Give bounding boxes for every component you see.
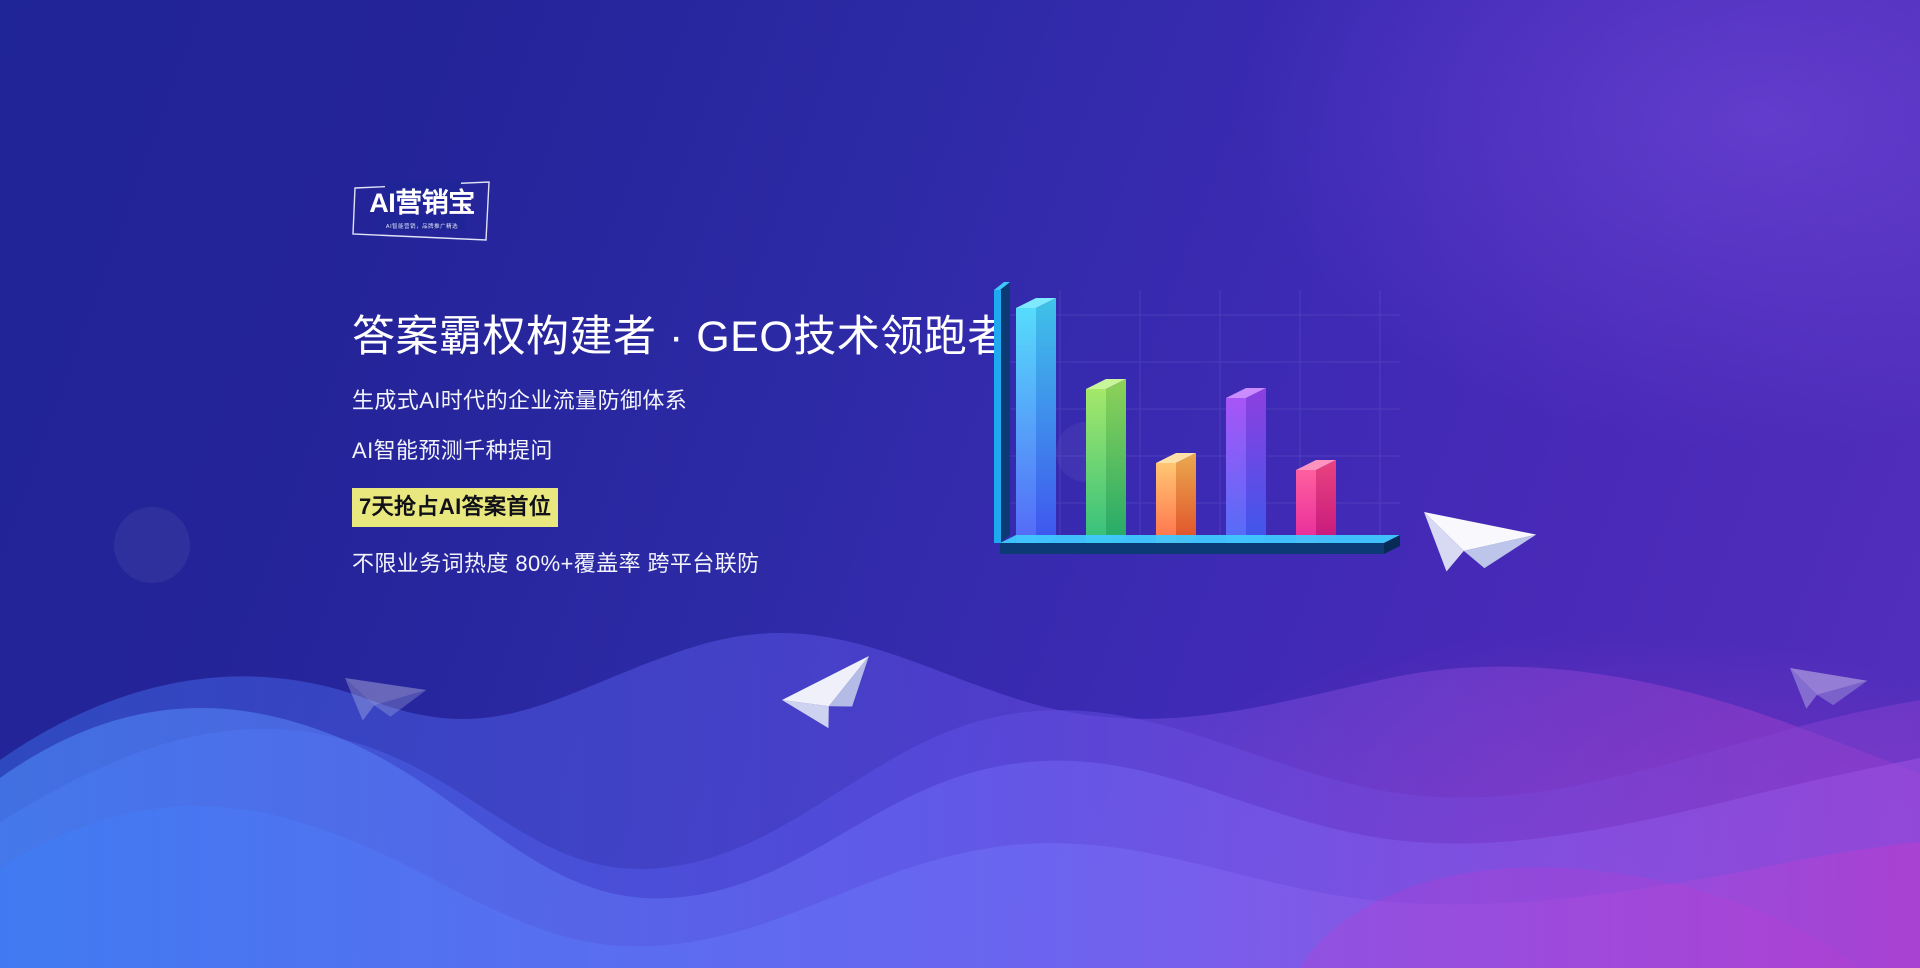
bar-chart-illustration bbox=[980, 290, 1400, 600]
logo-tagline: AI智能营销，品牌推广精选 bbox=[352, 222, 492, 231]
chart-bar-3 bbox=[1156, 453, 1196, 548]
hero-banner: AI营销宝 AI智能营销，品牌推广精选 答案霸权构建者 · GEO技术领跑者 生… bbox=[0, 0, 1920, 968]
decor-circle-left bbox=[114, 507, 190, 583]
glow-bottom-right bbox=[1040, 630, 1920, 968]
hero-copy: 答案霸权构建者 · GEO技术领跑者 生成式AI时代的企业流量防御体系 AI智能… bbox=[352, 312, 1072, 575]
wave-magenta-blob bbox=[1300, 867, 1860, 968]
paper-plane-left-wave bbox=[345, 664, 430, 723]
paper-plane-far-right bbox=[1790, 655, 1871, 711]
chart-y-axis bbox=[994, 282, 1010, 543]
hero-highlight-badge: 7天抢占AI答案首位 bbox=[352, 488, 558, 527]
paper-plane-mid-wave bbox=[782, 634, 885, 738]
hero-highlight-row: 7天抢占AI答案首位 bbox=[352, 488, 1072, 527]
paper-plane-right-of-chart bbox=[1424, 497, 1540, 575]
logo-wordmark: AI营销宝 bbox=[361, 190, 483, 217]
chart-bars bbox=[1016, 298, 1336, 548]
chart-gridlines bbox=[1010, 290, 1400, 541]
wave-front-blue bbox=[0, 806, 1920, 968]
chart-base-platform bbox=[1000, 535, 1400, 554]
wave-light-blue bbox=[0, 708, 1920, 968]
chart-bar-1 bbox=[1016, 298, 1056, 548]
chart-bar-5 bbox=[1296, 460, 1336, 548]
brand-logo[interactable]: AI营销宝 AI智能营销，品牌推广精选 bbox=[352, 180, 492, 242]
page-title: 答案霸权构建者 · GEO技术领跑者 bbox=[352, 312, 1072, 363]
hero-subline-2: AI智能预测千种提问 bbox=[352, 440, 1072, 462]
wave-back-violet bbox=[0, 633, 1920, 968]
hero-footer-line: 不限业务词热度 80%+覆盖率 跨平台联防 bbox=[352, 553, 1072, 575]
chart-bar-2 bbox=[1086, 379, 1126, 548]
chart-bar-4 bbox=[1226, 388, 1266, 548]
hero-subline-1: 生成式AI时代的企业流量防御体系 bbox=[352, 390, 1072, 412]
wave-mid-purple bbox=[0, 700, 1920, 968]
